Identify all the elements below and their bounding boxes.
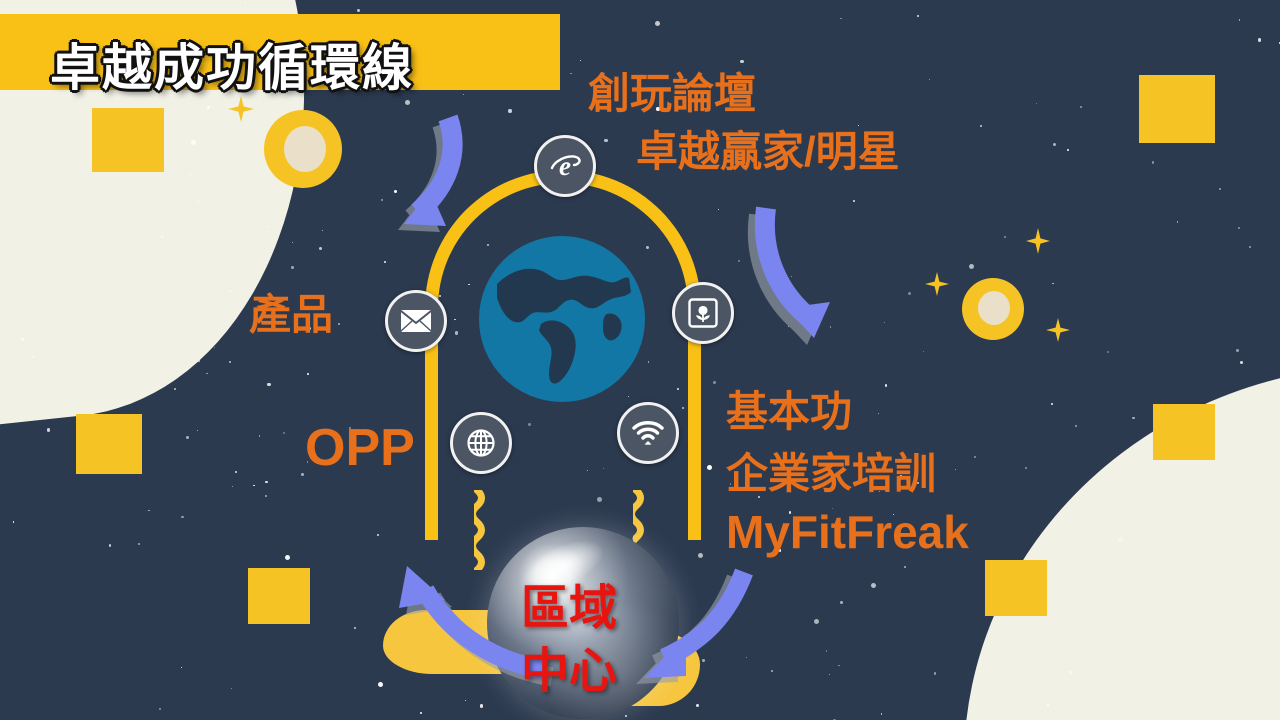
star-dot: [1240, 361, 1243, 364]
star-dot: [292, 242, 293, 243]
star-dot: [191, 140, 196, 145]
star-dot: [814, 619, 819, 624]
star-dot: [1249, 246, 1251, 248]
cream-blob-notch: [0, 630, 260, 720]
star-dot: [235, 471, 237, 473]
star-dot: [1258, 38, 1261, 41]
arrow-top-right-down-icon: [742, 198, 872, 346]
star-dot: [174, 388, 176, 390]
star-dot: [840, 601, 843, 604]
decor-star-icon: [248, 568, 310, 624]
star-dot: [878, 413, 879, 414]
star-dot: [480, 704, 483, 707]
label-opp: OPP: [305, 418, 415, 478]
decor-star-icon: [1139, 75, 1215, 143]
label-forum: 創玩論壇: [588, 60, 756, 121]
star-dot: [570, 73, 571, 74]
star-dot: [319, 247, 322, 250]
star-dot: [229, 290, 230, 291]
star-dot: [1152, 161, 1154, 163]
star-dot: [881, 713, 882, 714]
label-basic-skills: 基本功: [726, 378, 852, 439]
star-dot: [604, 139, 607, 142]
title-banner: 卓越成功循環線: [0, 14, 560, 90]
star-dot: [974, 456, 976, 458]
star-dot: [354, 627, 356, 629]
star-dot: [384, 261, 386, 263]
internet-explorer-icon[interactable]: e: [534, 135, 596, 197]
star-dot: [917, 15, 919, 17]
star-dot: [210, 253, 211, 254]
page-title: 卓越成功循環線: [50, 28, 414, 100]
star-dot: [181, 516, 183, 518]
star-dot: [904, 566, 906, 568]
label-entrepreneur-training: 企業家培訓: [726, 440, 936, 501]
cream-blob-right: [935, 323, 1280, 720]
star-dot: [707, 465, 712, 470]
star-dot: [655, 21, 660, 26]
decor-star-icon: [985, 560, 1047, 616]
star-dot: [291, 266, 294, 269]
star-dot: [1236, 349, 1239, 352]
star-dot: [465, 700, 466, 701]
star-dot: [838, 665, 839, 666]
star-dot: [1075, 425, 1077, 427]
star-dot: [253, 485, 254, 486]
star-dot: [197, 430, 198, 431]
star-dot: [1219, 188, 1221, 190]
star-dot: [259, 435, 260, 436]
decor-star-icon: [76, 414, 142, 474]
star-dot: [265, 481, 267, 483]
star-dot: [138, 543, 140, 545]
decor-star-icon: [1153, 404, 1215, 460]
star-dot: [207, 106, 210, 109]
star-dot: [969, 264, 974, 269]
star-dot: [1107, 351, 1109, 353]
star-dot: [1036, 103, 1037, 104]
star-dot: [13, 521, 14, 522]
star-dot: [245, 2, 246, 3]
star-dot: [206, 373, 207, 374]
star-dot: [1051, 403, 1052, 404]
star-dot: [829, 674, 830, 675]
star-dot: [955, 469, 956, 470]
star-dot: [1004, 236, 1006, 238]
star-dot: [190, 174, 192, 176]
star-dot: [1132, 417, 1134, 419]
star-dot: [980, 125, 982, 127]
star-dot: [1118, 537, 1123, 542]
star-dot: [232, 486, 233, 487]
arrow-bottom-right-down-icon: [616, 552, 776, 697]
star-dot: [1025, 467, 1027, 469]
mail-envelope-icon[interactable]: [385, 290, 447, 352]
lightbulb-leg-left: [425, 480, 438, 540]
star-dot: [283, 432, 285, 434]
star-dot: [580, 60, 581, 61]
label-brand-myfitfreak: MyFitFreak: [726, 505, 969, 559]
star-dot: [338, 323, 340, 325]
star-dot: [301, 473, 304, 476]
decor-sparkle-icon: [925, 272, 949, 296]
star-dot: [32, 356, 34, 358]
star-dot: [1080, 106, 1082, 108]
star-dot: [109, 544, 111, 546]
star-dot: [1052, 283, 1053, 284]
star-dot: [934, 672, 936, 674]
star-dot: [229, 361, 231, 363]
star-dot: [923, 351, 924, 352]
star-dot: [307, 373, 309, 375]
decor-sparkle-icon: [1026, 228, 1050, 254]
decor-planet-icon: [264, 110, 342, 188]
slide-canvas: 卓越成功循環線 e: [0, 0, 1280, 720]
star-dot: [377, 534, 379, 536]
star-dot: [929, 79, 930, 80]
decor-star-icon: [92, 108, 164, 172]
star-dot: [908, 292, 911, 295]
label-region: 區域: [521, 568, 617, 638]
star-dot: [420, 712, 422, 714]
star-dot: [405, 100, 410, 105]
star-dot: [214, 347, 215, 348]
star-dot: [198, 360, 200, 362]
star-dot: [826, 650, 827, 651]
star-dot: [267, 383, 270, 386]
star-dot: [625, 715, 627, 717]
photo-tulip-icon[interactable]: [672, 282, 734, 344]
star-dot: [1069, 671, 1071, 673]
star-dot: [713, 381, 716, 384]
star-dot: [885, 384, 887, 386]
star-dot: [840, 18, 841, 19]
star-dot: [463, 94, 464, 95]
star-dot: [186, 436, 189, 439]
star-dot: [884, 322, 885, 323]
star-dot: [47, 428, 50, 431]
decor-planet-icon: [962, 278, 1024, 340]
arrow-top-left-down-icon: [352, 108, 482, 248]
star-dot: [1053, 143, 1056, 146]
star-dot: [197, 201, 198, 202]
star-dot: [322, 230, 323, 231]
label-product: 產品: [249, 281, 333, 342]
star-dot: [738, 260, 740, 262]
earth-globe: [479, 236, 645, 402]
globe-network-icon[interactable]: [450, 412, 512, 474]
star-dot: [1238, 227, 1240, 229]
label-center: 中心: [521, 631, 617, 701]
star-dot: [1239, 19, 1240, 20]
star-dot: [265, 495, 267, 497]
star-dot: [378, 682, 383, 687]
star-dot: [148, 510, 149, 511]
lightbulb-leg-right: [688, 480, 701, 540]
star-dot: [285, 555, 290, 560]
star-dot: [508, 109, 511, 112]
label-winner-star: 卓越贏家/明星: [636, 118, 900, 179]
decor-sparkle-icon: [1046, 318, 1070, 342]
star-dot: [1177, 221, 1178, 222]
star-dot: [357, 9, 360, 12]
star-dot: [696, 704, 699, 707]
star-dot: [718, 209, 719, 210]
wifi-signal-icon[interactable]: [617, 402, 679, 464]
star-dot: [871, 583, 876, 588]
star-dot: [1067, 149, 1068, 150]
star-dot: [1130, 579, 1131, 580]
